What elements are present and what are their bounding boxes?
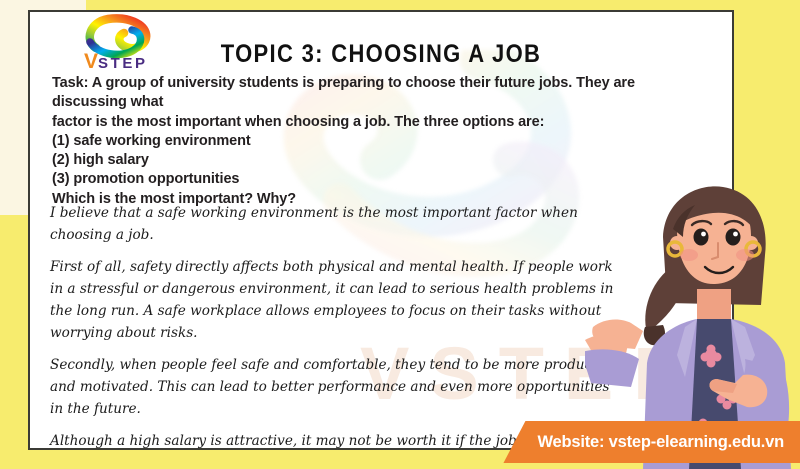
website-banner: Website: vstep-elearning.edu.vn [503, 421, 800, 463]
task-line: Task: A group of university students is … [52, 74, 712, 113]
answer-body: I believe that a safe working environmen… [50, 202, 620, 450]
answer-paragraph: Secondly, when people feel safe and comf… [50, 354, 620, 420]
task-option: (3) promotion opportunities [52, 170, 712, 189]
task-line: factor is the most important when choosi… [52, 113, 712, 132]
task-option: (1) safe working environment [52, 132, 712, 151]
answer-paragraph: I believe that a safe working environmen… [50, 202, 620, 246]
task-description: Task: A group of university students is … [52, 74, 712, 209]
website-banner-text: Website: vstep-elearning.edu.vn [537, 433, 784, 452]
task-option: (2) high salary [52, 151, 712, 170]
page-title: TOPIC 3: CHOOSING A JOB [72, 40, 690, 69]
answer-paragraph: First of all, safety directly affects bo… [50, 256, 620, 344]
slide-card: VSTEP [28, 10, 734, 450]
